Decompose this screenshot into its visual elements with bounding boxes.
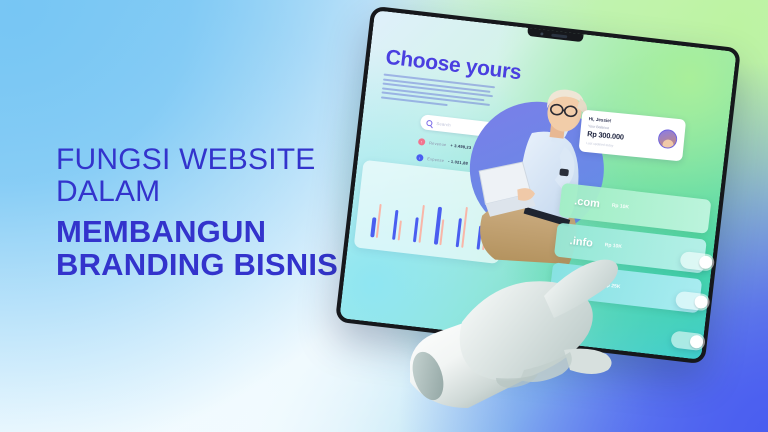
bar-group [370,171,387,238]
stat-name: Revenue [429,140,447,147]
arrow-down-icon: ↓ [416,154,424,162]
bar-group [412,176,429,243]
stat-value: + 3.498,23 [450,143,471,150]
headline-line-4: BRANDING BISNIS [56,248,386,281]
stat-row-revenue: ↑ Revenue + 3.498,23 [418,138,472,151]
bar-group [391,174,408,241]
domain-price: Rp 10K [604,242,622,250]
domain-name: .info [569,235,593,250]
page-title: FUNGSI WEBSITE DALAM MEMBANGUN BRANDING … [56,144,386,282]
headline-line-3: MEMBANGUN [56,215,386,248]
arrow-up-icon: ↑ [418,138,426,146]
bar-group [434,179,451,246]
pointing-hand-3d [404,258,654,432]
stat-row-expense: ↓ Expense - 1.021,88 [416,154,468,167]
stat-name: Expense [427,156,444,163]
headline-line-2: DALAM [56,176,386,208]
domain-name: .com [574,195,601,210]
search-placeholder: Search [436,121,451,128]
stat-value: - 1.021,88 [448,159,468,166]
search-icon [426,119,433,126]
domain-price: Rp 10K [611,203,629,211]
headline-line-1: FUNGSI WEBSITE [56,144,386,176]
